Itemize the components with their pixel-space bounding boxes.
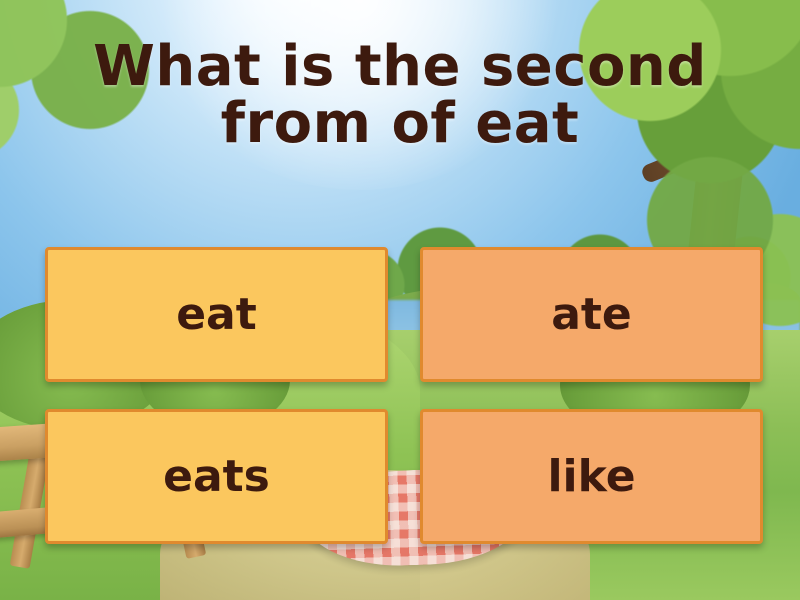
answer-option-1-label: eat (176, 293, 257, 337)
answer-options: eat ate eats like (45, 247, 763, 544)
question-text: What is the second from of eat (0, 38, 800, 152)
question-line-1: What is the second (30, 38, 770, 95)
answer-option-3[interactable]: eats (45, 409, 388, 544)
quiz-scene: What is the second from of eat eat ate e… (0, 0, 800, 600)
answer-option-2[interactable]: ate (420, 247, 763, 382)
answer-option-1[interactable]: eat (45, 247, 388, 382)
answer-option-4[interactable]: like (420, 409, 763, 544)
answer-option-4-label: like (547, 455, 635, 499)
question-line-2: from of eat (30, 95, 770, 152)
answer-option-3-label: eats (163, 455, 270, 499)
answer-option-2-label: ate (551, 293, 632, 337)
